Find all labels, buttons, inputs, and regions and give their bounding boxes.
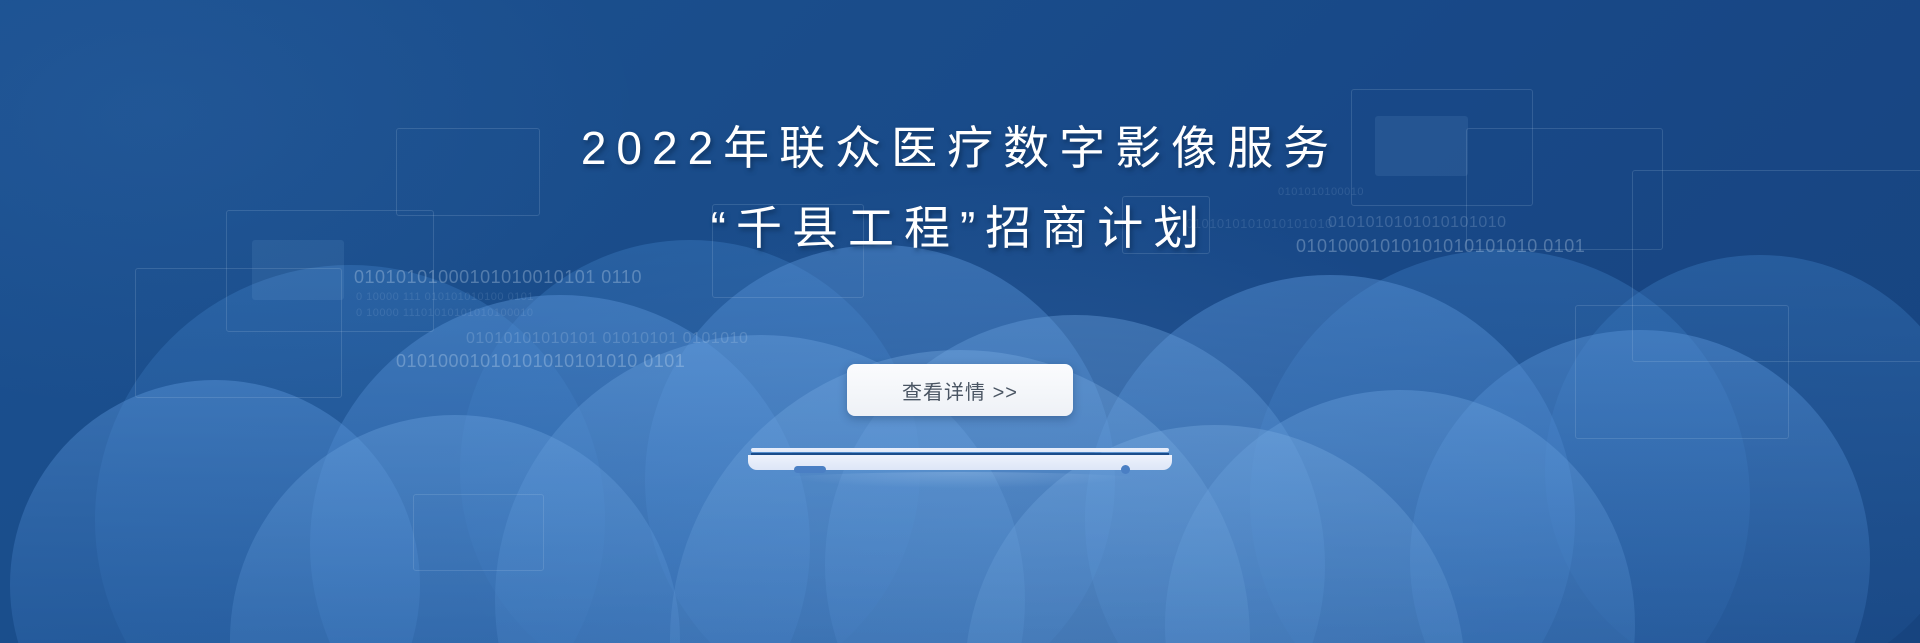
binary-text-4: 01010101010101 01010101 0101010 [466,330,748,348]
laptop-notch-icon [794,466,826,473]
laptop-base-graphic [748,448,1172,476]
laptop-indicator-dot-icon [1121,465,1130,474]
laptop-body [748,455,1172,470]
binary-text-3: 0 10000 11101010101010100010 [356,307,534,319]
promo-banner: 01010101000101010010101 0110 0 10000 111… [0,0,1920,643]
binary-text-5: 01010001010101010101010 0101 [396,351,685,372]
binary-text-2: 0 10000 111 010101010100 0101 [356,291,534,303]
headline-line-2: “千县工程”招商计划 [0,188,1920,268]
headline-line-1: 2022年联众医疗数字影像服务 [0,108,1920,188]
deco-rect-bottom-left [413,494,544,571]
banner-headline: 2022年联众医疗数字影像服务 “千县工程”招商计划 [0,108,1920,268]
view-details-label: 查看详情 >> [902,376,1018,405]
deco-rect-far-right-b [1575,305,1789,439]
laptop-lid-edge [751,448,1169,452]
laptop-glow [776,472,1144,488]
view-details-button[interactable]: 查看详情 >> [847,364,1073,416]
binary-text-1: 01010101000101010010101 0110 [354,267,642,288]
